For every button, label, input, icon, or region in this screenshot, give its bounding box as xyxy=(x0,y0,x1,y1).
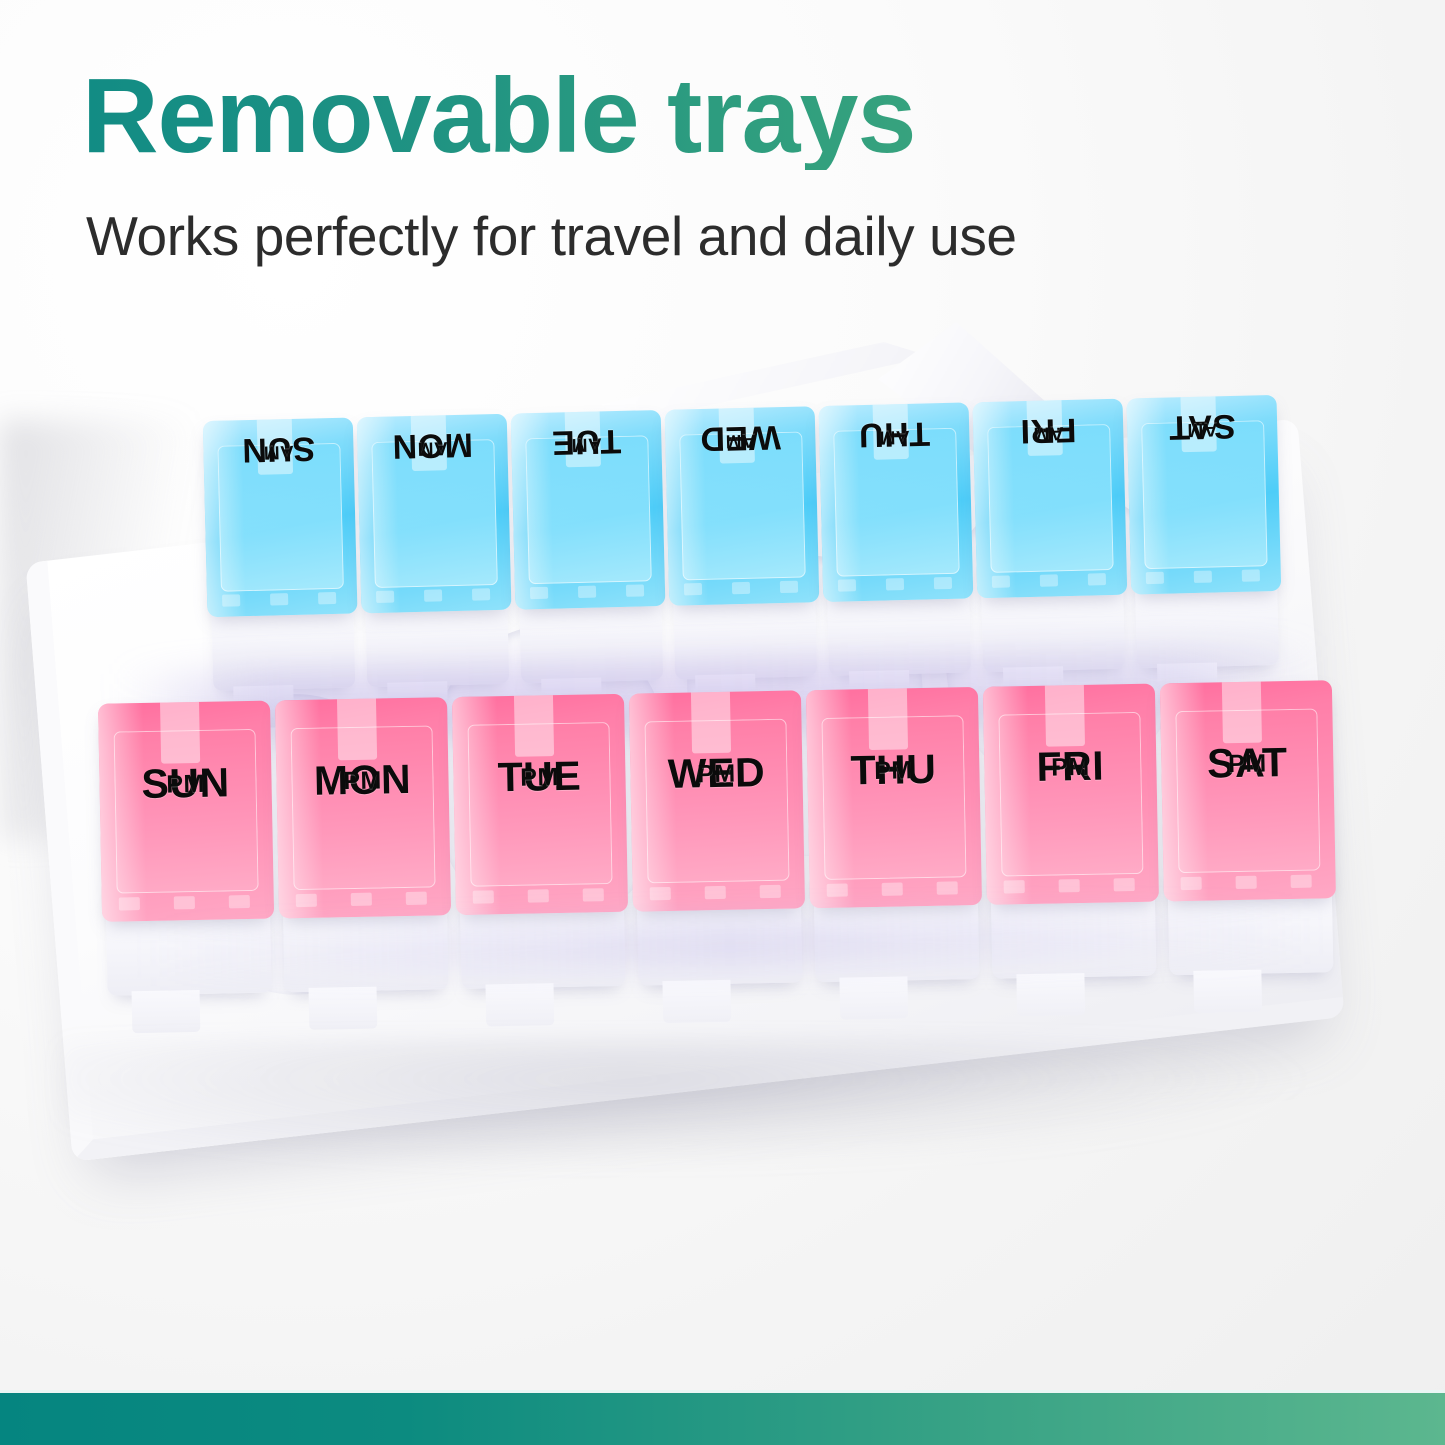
pod-foot xyxy=(1193,970,1263,1013)
lid-gloss xyxy=(452,696,501,915)
lid-thumb-tab xyxy=(337,697,378,760)
lid-notch xyxy=(626,585,644,597)
pod-lid-am[interactable]: SUN AM xyxy=(203,417,358,617)
pill-pod-pm[interactable]: MON PM xyxy=(275,697,451,918)
lid-notch xyxy=(705,886,726,899)
pod-lid-pm[interactable]: SAT PM xyxy=(1160,680,1336,901)
lid-notch xyxy=(424,590,442,602)
lid-notch xyxy=(296,894,317,907)
lid-notch xyxy=(760,885,781,898)
pod-foot xyxy=(308,987,378,1030)
pm-tray-row: SUN PM MON PM xyxy=(98,680,1336,922)
lid-notch xyxy=(472,589,490,601)
table-contact-shadow xyxy=(60,1040,1320,1170)
pod-period-label: PM xyxy=(630,760,802,788)
lid-notch xyxy=(684,583,702,595)
lid-gloss xyxy=(983,686,1032,905)
pod-lid-pm[interactable]: SUN PM xyxy=(98,701,274,922)
lid-notch xyxy=(934,577,952,589)
pod-period-label: AM xyxy=(1127,418,1277,441)
pill-pod-am[interactable]: FRI AM xyxy=(973,399,1128,599)
lid-notch xyxy=(174,896,195,909)
pod-foot xyxy=(839,976,909,1019)
lid-notch xyxy=(583,888,604,901)
lid-gloss xyxy=(1160,683,1209,902)
pod-period-label: AM xyxy=(203,441,353,464)
pod-lid-am[interactable]: FRI AM xyxy=(973,399,1128,599)
lid-notch xyxy=(937,881,958,894)
lid-thumb-tab xyxy=(868,687,909,750)
lid-thumb-tab xyxy=(160,701,201,764)
lid-notch xyxy=(351,893,372,906)
pod-foot xyxy=(131,990,201,1033)
lid-gloss xyxy=(629,693,678,912)
lid-notch xyxy=(222,595,240,607)
pill-pod-pm[interactable]: WED PM xyxy=(629,690,805,911)
pill-pod-pm[interactable]: THU PM xyxy=(806,687,982,908)
pod-foot xyxy=(1016,973,1086,1016)
lid-notch xyxy=(1040,575,1058,587)
pod-period-label: PM xyxy=(984,754,1156,782)
pod-lid-am[interactable]: TUE AM xyxy=(511,410,666,610)
lid-notch xyxy=(1181,877,1202,890)
lid-notch xyxy=(530,587,548,599)
pod-period-label: PM xyxy=(276,767,448,795)
lid-notch xyxy=(886,579,904,591)
lid-notch xyxy=(650,887,671,900)
lid-notch xyxy=(780,581,798,593)
pill-pod-am[interactable]: TUE AM xyxy=(511,410,666,610)
pod-period-label: PM xyxy=(1161,750,1333,778)
pod-foot xyxy=(662,980,732,1023)
product-photo: SUN AM MON AM xyxy=(0,300,1445,1390)
lid-thumb-tab xyxy=(1045,684,1086,747)
lid-notch xyxy=(1146,572,1164,584)
lid-notch xyxy=(1236,876,1257,889)
lid-notch xyxy=(318,592,336,604)
lid-thumb-tab xyxy=(1222,680,1263,743)
pod-lid-pm[interactable]: TUE PM xyxy=(452,694,628,915)
lid-notch xyxy=(882,882,903,895)
lid-notch xyxy=(992,576,1010,588)
pod-lid-am[interactable]: WED AM xyxy=(665,406,820,606)
pod-period-label: AM xyxy=(973,422,1123,445)
pill-pod-am[interactable]: MON AM xyxy=(357,414,512,614)
marketing-image: Removable trays Works perfectly for trav… xyxy=(0,0,1445,1445)
pod-period-label: PM xyxy=(99,771,271,799)
lid-gloss xyxy=(275,700,324,919)
pod-lid-pm[interactable]: WED PM xyxy=(629,690,805,911)
page-title: Removable trays xyxy=(82,62,1282,170)
lid-notch xyxy=(119,897,140,910)
lid-notch xyxy=(578,586,596,598)
pod-lid-am[interactable]: SAT AM xyxy=(1126,395,1281,595)
lid-notch xyxy=(376,591,394,603)
pod-lid-pm[interactable]: MON PM xyxy=(275,697,451,918)
lid-notch xyxy=(473,890,494,903)
am-tray-row: SUN AM MON AM xyxy=(203,395,1281,617)
pod-lid-am[interactable]: MON AM xyxy=(357,414,512,614)
pod-period-label: AM xyxy=(511,433,661,456)
pod-period-label: PM xyxy=(453,764,625,792)
pod-period-label: AM xyxy=(819,425,969,448)
lid-notch xyxy=(1059,879,1080,892)
pod-period-label: AM xyxy=(357,437,507,460)
pod-lid-am[interactable]: THU AM xyxy=(819,402,974,602)
lid-notch xyxy=(838,580,856,592)
pill-pod-am[interactable]: WED AM xyxy=(665,406,820,606)
pod-foot xyxy=(485,983,555,1026)
lid-gloss xyxy=(806,689,855,908)
lid-notch xyxy=(1004,880,1025,893)
lid-notch xyxy=(229,895,250,908)
pod-lid-pm[interactable]: THU PM xyxy=(806,687,982,908)
lid-gloss xyxy=(98,703,147,922)
pill-pod-pm[interactable]: SUN PM xyxy=(98,701,274,922)
lid-notch xyxy=(528,889,549,902)
brand-band xyxy=(0,1393,1445,1445)
pill-pod-pm[interactable]: TUE PM xyxy=(452,694,628,915)
pill-pod-am[interactable]: SUN AM xyxy=(203,417,358,617)
pod-lid-pm[interactable]: FRI PM xyxy=(983,684,1159,905)
lid-notch xyxy=(1291,875,1312,888)
pill-pod-am[interactable]: SAT AM xyxy=(1126,395,1281,595)
lid-notch xyxy=(732,582,750,594)
page-subtitle: Works perfectly for travel and daily use xyxy=(86,204,1017,268)
lid-notch xyxy=(1114,878,1135,891)
lid-thumb-tab xyxy=(514,694,555,757)
lid-notch xyxy=(1194,571,1212,583)
pill-pod-am[interactable]: THU AM xyxy=(819,402,974,602)
pill-pod-pm[interactable]: SAT PM xyxy=(1160,680,1336,901)
lid-notch xyxy=(827,884,848,897)
lid-thumb-tab xyxy=(691,690,732,753)
pill-pod-pm[interactable]: FRI PM xyxy=(983,684,1159,905)
lid-notch xyxy=(406,892,427,905)
pod-period-label: AM xyxy=(665,429,815,452)
lid-notch xyxy=(270,594,288,606)
lid-notch xyxy=(1242,570,1260,582)
pod-period-label: PM xyxy=(807,757,979,785)
lid-notch xyxy=(1088,574,1106,586)
